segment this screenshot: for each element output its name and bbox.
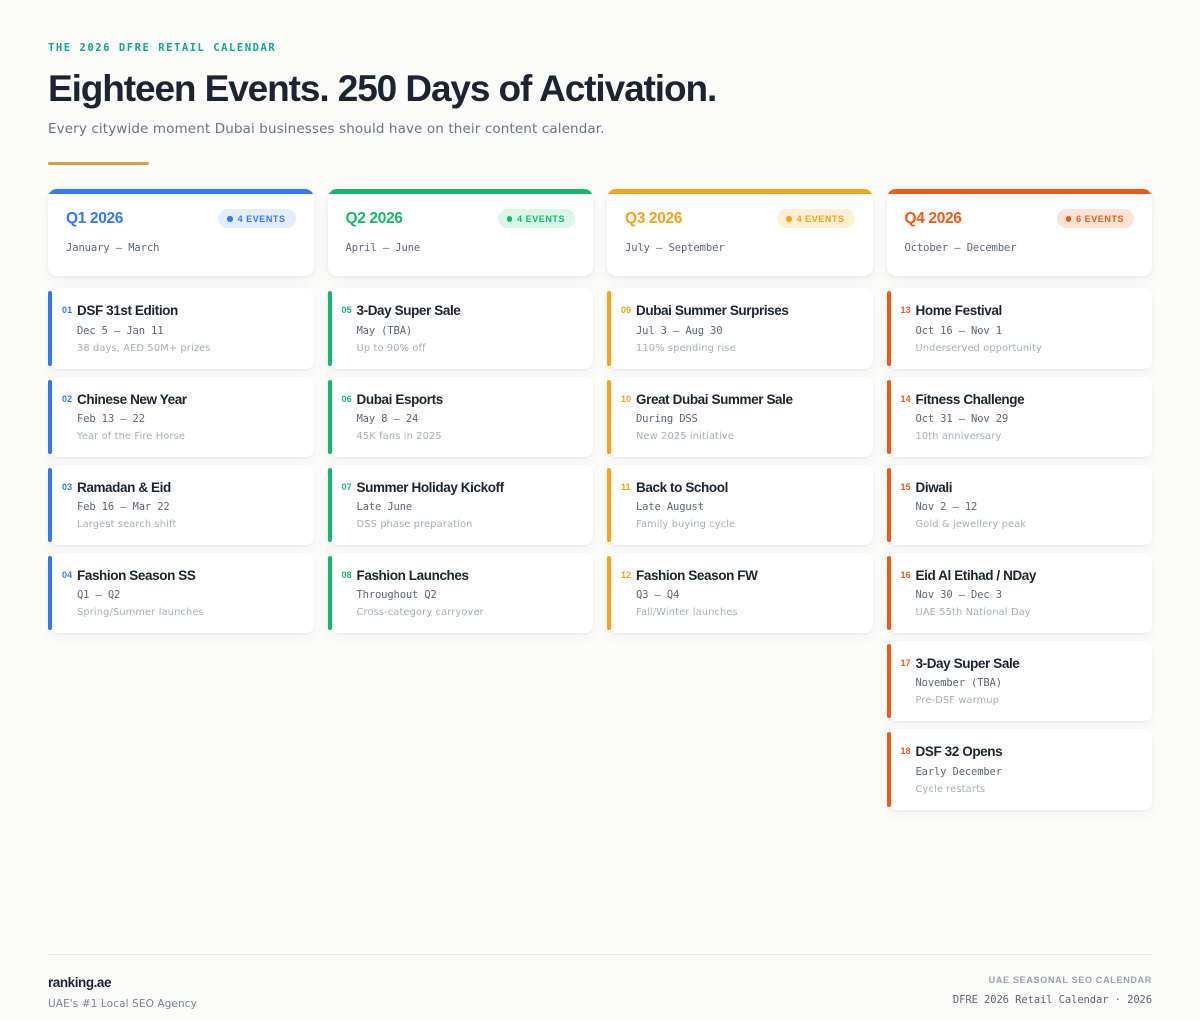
calendar-page: THE 2026 DFRE RETAIL CALENDAR Eighteen E… [0,0,1200,1020]
event-number: 17 [901,658,911,668]
badge-label: 4 EVENTS [238,214,286,224]
event-date: Jul 3 – Aug 30 [636,325,857,337]
quarter-date-range: January – March [66,242,296,254]
quarter-date-range: July – September [625,242,855,254]
event-card-list: 13Home FestivalOct 16 – Nov 1Underserved… [887,288,1153,809]
event-title: 3-Day Super Sale [357,303,578,319]
event-card[interactable]: 13Home FestivalOct 16 – Nov 1Underserved… [887,288,1153,368]
event-number: 06 [342,394,352,404]
quarters-grid: Q1 20264 EVENTSJanuary – March01DSF 31st… [48,189,1152,809]
event-number: 04 [62,570,72,580]
event-note: UAE 55th National Day [916,607,1137,618]
event-number: 02 [62,394,72,404]
quarter-event-count-badge: 4 EVENTS [218,209,295,228]
event-date: Late June [357,501,578,513]
event-title: Ramadan & Eid [77,480,298,496]
quarter-column-q2: Q2 20264 EVENTSApril – June053-Day Super… [328,189,594,633]
event-title: DSF 32 Opens [916,744,1137,760]
event-date: Feb 13 – 22 [77,413,298,425]
footer-meta-block: UAE SEASONAL SEO CALENDAR DFRE 2026 Reta… [953,975,1152,1006]
event-number: 01 [62,305,72,315]
page-header: THE 2026 DFRE RETAIL CALENDAR Eighteen E… [48,0,1152,165]
eyebrow-label: THE 2026 DFRE RETAIL CALENDAR [48,42,1152,54]
badge-label: 4 EVENTS [797,214,845,224]
event-date: May 8 – 24 [357,413,578,425]
event-number: 05 [342,305,352,315]
event-number: 13 [901,305,911,315]
event-title: Chinese New Year [77,392,298,408]
quarter-event-count-badge: 6 EVENTS [1057,209,1134,228]
event-note: Cycle restarts [916,784,1137,795]
event-number: 10 [621,394,631,404]
event-card[interactable]: 053-Day Super SaleMay (TBA)Up to 90% off [328,288,594,368]
quarter-title: Q2 2026 [346,210,403,228]
event-note: Gold & jewellery peak [916,519,1137,530]
event-number: 15 [901,482,911,492]
event-note: 110% spending rise [636,343,857,354]
event-note: Fall/Winter launches [636,607,857,618]
quarter-event-count-badge: 4 EVENTS [498,209,575,228]
quarter-event-count-badge: 4 EVENTS [777,209,854,228]
event-date: Q1 – Q2 [77,589,298,601]
event-card[interactable]: 173-Day Super SaleNovember (TBA)Pre-DSF … [887,641,1153,721]
event-card[interactable]: 03Ramadan & EidFeb 16 – Mar 22Largest se… [48,465,314,545]
quarter-header-q1[interactable]: Q1 20264 EVENTSJanuary – March [48,189,314,276]
event-title: Home Festival [916,303,1137,319]
event-date: Dec 5 – Jan 11 [77,325,298,337]
event-note: 10th anniversary [916,431,1137,442]
event-date: Oct 16 – Nov 1 [916,325,1137,337]
event-date: May (TBA) [357,325,578,337]
footer-divider [48,954,1152,955]
footer-meta-label: UAE SEASONAL SEO CALENDAR [953,975,1152,985]
event-note: Largest search shift [77,519,298,530]
event-card[interactable]: 14Fitness ChallengeOct 31 – Nov 2910th a… [887,377,1153,457]
event-date: During DSS [636,413,857,425]
event-card[interactable]: 11Back to SchoolLate AugustFamily buying… [607,465,873,545]
event-date: Q3 – Q4 [636,589,857,601]
event-date: November (TBA) [916,677,1137,689]
quarter-date-range: April – June [346,242,576,254]
event-card[interactable]: 02Chinese New YearFeb 13 – 22Year of the… [48,377,314,457]
event-card[interactable]: 10Great Dubai Summer SaleDuring DSSNew 2… [607,377,873,457]
event-number: 11 [621,482,631,492]
quarter-header-q3[interactable]: Q3 20264 EVENTSJuly – September [607,189,873,276]
event-card[interactable]: 15DiwaliNov 2 – 12Gold & jewellery peak [887,465,1153,545]
quarter-header-q4[interactable]: Q4 20266 EVENTSOctober – December [887,189,1153,276]
accent-divider [48,162,149,165]
event-date: Nov 2 – 12 [916,501,1137,513]
event-note: 38 days, AED 50M+ prizes [77,343,298,354]
event-number: 03 [62,482,72,492]
event-title: Dubai Esports [357,392,578,408]
event-number: 12 [621,570,631,580]
event-card[interactable]: 04Fashion Season SSQ1 – Q2Spring/Summer … [48,553,314,633]
event-card-list: 01DSF 31st EditionDec 5 – Jan 1138 days,… [48,288,314,633]
event-title: Diwali [916,480,1137,496]
event-date: Feb 16 – Mar 22 [77,501,298,513]
event-title: DSF 31st Edition [77,303,298,319]
badge-dot-icon [1066,216,1072,222]
event-number: 18 [901,746,911,756]
event-note: Family buying cycle [636,519,857,530]
event-card[interactable]: 09Dubai Summer SurprisesJul 3 – Aug 3011… [607,288,873,368]
quarter-title: Q3 2026 [625,210,682,228]
event-card-list: 09Dubai Summer SurprisesJul 3 – Aug 3011… [607,288,873,633]
event-title: Fitness Challenge [916,392,1137,408]
event-title: Back to School [636,480,857,496]
event-title: Fashion Season FW [636,568,857,584]
event-title: Summer Holiday Kickoff [357,480,578,496]
event-note: Up to 90% off [357,343,578,354]
event-card[interactable]: 06Dubai EsportsMay 8 – 2445K fans in 202… [328,377,594,457]
badge-dot-icon [786,216,792,222]
event-title: 3-Day Super Sale [916,656,1137,672]
quarter-header-q2[interactable]: Q2 20264 EVENTSApril – June [328,189,594,276]
event-card-list: 053-Day Super SaleMay (TBA)Up to 90% off… [328,288,594,633]
quarter-title: Q1 2026 [66,210,123,228]
brand-name: ranking.ae [48,975,197,990]
footer-meta-value: DFRE 2026 Retail Calendar · 2026 [953,994,1152,1006]
event-note: DSS phase preparation [357,519,578,530]
event-note: Underserved opportunity [916,343,1137,354]
quarter-column-q3: Q3 20264 EVENTSJuly – September09Dubai S… [607,189,873,633]
event-note: Pre-DSF warmup [916,695,1137,706]
badge-dot-icon [227,216,233,222]
quarter-title: Q4 2026 [905,210,962,228]
event-date: Early December [916,766,1137,778]
quarter-date-range: October – December [905,242,1135,254]
event-note: Spring/Summer launches [77,607,298,618]
event-number: 14 [901,394,911,404]
badge-label: 6 EVENTS [1076,214,1124,224]
event-date: Throughout Q2 [357,589,578,601]
event-note: Cross-category carryover [357,607,578,618]
page-title: Eighteen Events. 250 Days of Activation. [48,70,1152,108]
event-title: Dubai Summer Surprises [636,303,857,319]
event-note: New 2025 initiative [636,431,857,442]
event-number: 07 [342,482,352,492]
event-title: Fashion Season SS [77,568,298,584]
page-subtitle: Every citywide moment Dubai businesses s… [48,121,1152,137]
quarter-column-q4: Q4 20266 EVENTSOctober – December13Home … [887,189,1153,809]
footer-brand-block: ranking.ae UAE's #1 Local SEO Agency [48,975,197,1010]
event-card[interactable]: 08Fashion LaunchesThroughout Q2Cross-cat… [328,553,594,633]
badge-dot-icon [507,216,513,222]
event-title: Great Dubai Summer Sale [636,392,857,408]
event-date: Late August [636,501,857,513]
event-number: 09 [621,305,631,315]
event-number: 08 [342,570,352,580]
event-number: 16 [901,570,911,580]
event-card[interactable]: 07Summer Holiday KickoffLate JuneDSS pha… [328,465,594,545]
event-title: Fashion Launches [357,568,578,584]
event-card[interactable]: 18DSF 32 OpensEarly DecemberCycle restar… [887,729,1153,809]
event-card[interactable]: 01DSF 31st EditionDec 5 – Jan 1138 days,… [48,288,314,368]
event-note: Year of the Fire Horse [77,431,298,442]
quarter-column-q1: Q1 20264 EVENTSJanuary – March01DSF 31st… [48,189,314,633]
page-footer: ranking.ae UAE's #1 Local SEO Agency UAE… [48,954,1152,1020]
event-card[interactable]: 16Eid Al Etihad / NDayNov 30 – Dec 3UAE … [887,553,1153,633]
brand-tagline: UAE's #1 Local SEO Agency [48,998,197,1010]
event-date: Oct 31 – Nov 29 [916,413,1137,425]
event-note: 45K fans in 2025 [357,431,578,442]
event-card[interactable]: 12Fashion Season FWQ3 – Q4Fall/Winter la… [607,553,873,633]
event-date: Nov 30 – Dec 3 [916,589,1137,601]
badge-label: 4 EVENTS [517,214,565,224]
event-title: Eid Al Etihad / NDay [916,568,1137,584]
